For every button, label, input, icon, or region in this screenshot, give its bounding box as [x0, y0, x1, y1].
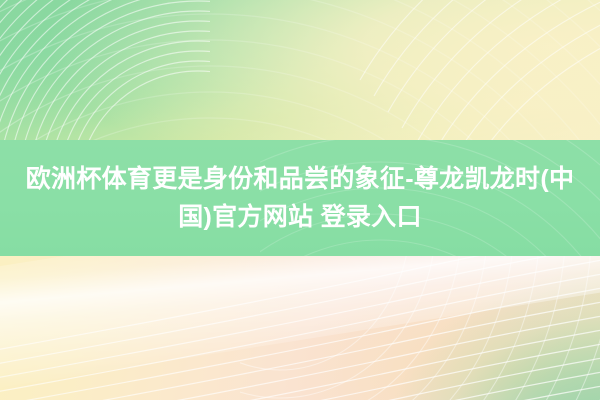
- page-title-line-1: 欧洲杯体育更是身份和品尝的象征-尊龙凯龙时(中: [26, 160, 575, 198]
- bottom-gradient-band: [0, 256, 600, 400]
- page-title: 欧洲杯体育更是身份和品尝的象征-尊龙凯龙时(中 国)官方网站 登录入口: [0, 140, 600, 256]
- banner-canvas: 欧洲杯体育更是身份和品尝的象征-尊龙凯龙时(中 国)官方网站 登录入口: [0, 0, 600, 400]
- page-title-line-2: 国)官方网站 登录入口: [178, 198, 422, 236]
